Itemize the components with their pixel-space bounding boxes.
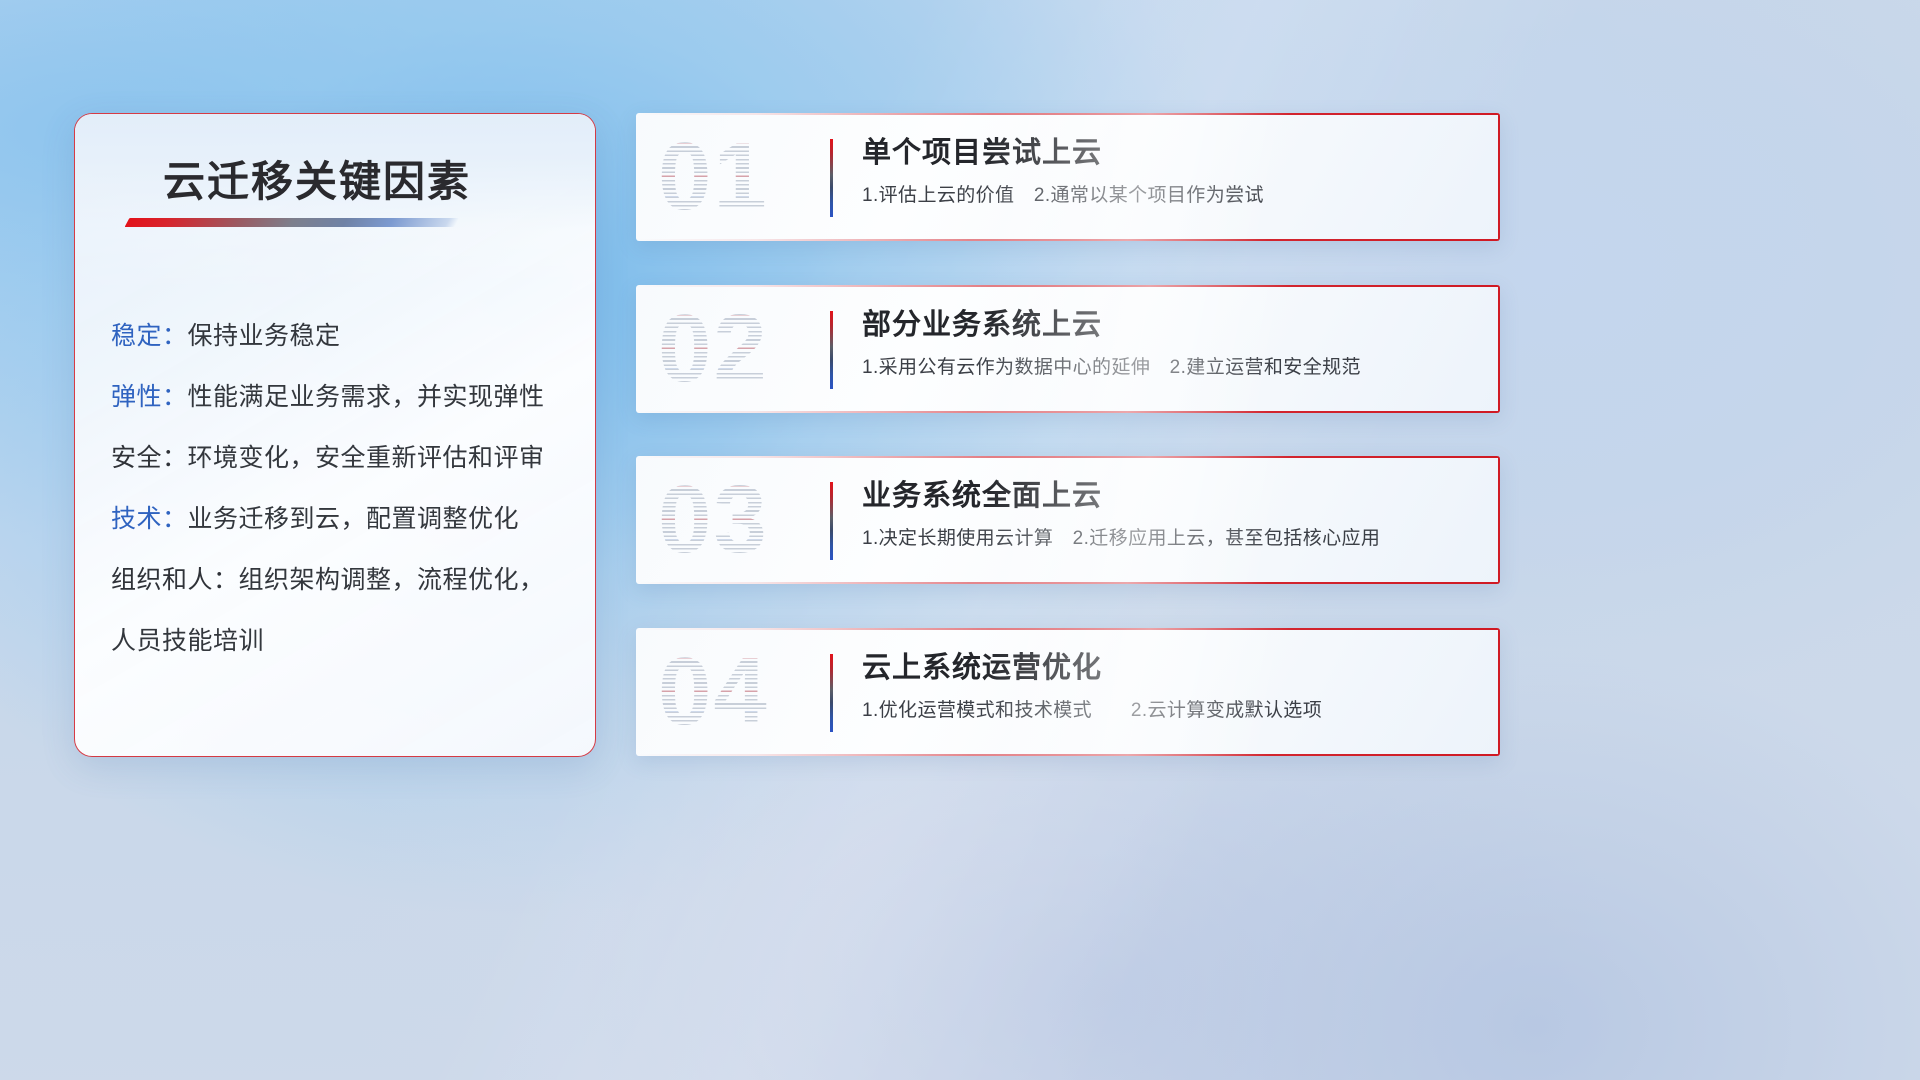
factor-value: 业务迁移到云，配置调整优化 [188, 505, 520, 533]
card-bottom-border [636, 754, 1500, 756]
card-top-border [636, 113, 1500, 115]
step-title: 单个项目尝试上云 [862, 131, 1474, 175]
step-content-02: 部分业务系统上云 1.采用公有云作为数据中心的延伸 2.建立运营和安全规范 [862, 303, 1474, 383]
key-factors-panel: 云迁移关键因素 稳定：保持业务稳定 弹性：性能满足业务需求，并实现弹性 安全：环… [74, 113, 596, 757]
card-right-border [1498, 456, 1500, 584]
step-number-01: 01 01 01 [658, 121, 858, 233]
factor-value: 组织架构调整，流程优化， [239, 566, 545, 594]
card-right-border [1498, 628, 1500, 756]
factor-key: 安全： [111, 444, 188, 472]
step-number-blue-glitch: 01 [658, 121, 858, 233]
step-number-blue-glitch: 04 [658, 636, 858, 748]
card-bottom-border [636, 411, 1500, 413]
card-top-border [636, 285, 1500, 287]
step-card-02[interactable]: 02 02 02 部分业务系统上云 1.采用公有云作为数据中心的延伸 2.建立运… [636, 285, 1500, 413]
title-underline-rule [125, 218, 460, 227]
factor-key: 弹性： [111, 383, 188, 411]
card-right-border [1498, 113, 1500, 241]
list-item: 弹性：性能满足业务需求，并实现弹性 [111, 367, 581, 428]
step-description: 1.评估上云的价值 2.通常以某个项目作为尝试 [862, 181, 1474, 211]
step-divider-bar [830, 311, 833, 389]
step-description: 1.采用公有云作为数据中心的延伸 2.建立运营和安全规范 [862, 353, 1474, 383]
step-divider-bar [830, 654, 833, 732]
factor-key: 技术： [111, 505, 188, 533]
list-item: 稳定：保持业务稳定 [111, 306, 581, 367]
key-factors-list: 稳定：保持业务稳定 弹性：性能满足业务需求，并实现弹性 安全：环境变化，安全重新… [111, 306, 581, 672]
page-title: 云迁移关键因素 [163, 148, 471, 209]
card-top-border [636, 628, 1500, 630]
factor-key: 稳定： [111, 322, 188, 350]
step-content-03: 业务系统全面上云 1.决定长期使用云计算 2.迁移应用上云，甚至包括核心应用 [862, 474, 1474, 554]
list-item: 人员技能培训 [111, 611, 581, 672]
step-title: 业务系统全面上云 [862, 474, 1474, 518]
step-number-02: 02 02 02 [658, 293, 858, 405]
list-item: 技术：业务迁移到云，配置调整优化 [111, 489, 581, 550]
step-divider-bar [830, 482, 833, 560]
card-right-border [1498, 285, 1500, 413]
card-bottom-border [636, 582, 1500, 584]
step-number-04: 04 04 04 [658, 636, 858, 748]
step-description: 1.优化运营模式和技术模式 2.云计算变成默认选项 [862, 696, 1474, 726]
list-item: 组织和人：组织架构调整，流程优化， [111, 550, 581, 611]
step-card-03[interactable]: 03 03 03 业务系统全面上云 1.决定长期使用云计算 2.迁移应用上云，甚… [636, 456, 1500, 584]
card-top-border [636, 456, 1500, 458]
factor-value: 环境变化，安全重新评估和评审 [188, 444, 545, 472]
step-number-blue-glitch: 02 [658, 293, 858, 405]
factor-value: 保持业务稳定 [188, 322, 341, 350]
card-bottom-border [636, 239, 1500, 241]
step-number-blue-glitch: 03 [658, 464, 858, 576]
step-content-04: 云上系统运营优化 1.优化运营模式和技术模式 2.云计算变成默认选项 [862, 646, 1474, 726]
list-item: 安全：环境变化，安全重新评估和评审 [111, 428, 581, 489]
step-divider-bar [830, 139, 833, 217]
step-content-01: 单个项目尝试上云 1.评估上云的价值 2.通常以某个项目作为尝试 [862, 131, 1474, 211]
factor-value: 性能满足业务需求，并实现弹性 [188, 383, 545, 411]
step-number-03: 03 03 03 [658, 464, 858, 576]
step-description: 1.决定长期使用云计算 2.迁移应用上云，甚至包括核心应用 [862, 524, 1474, 554]
step-title: 部分业务系统上云 [862, 303, 1474, 347]
factor-key: 组织和人： [111, 566, 239, 594]
step-title: 云上系统运营优化 [862, 646, 1474, 690]
factor-value: 人员技能培训 [111, 627, 264, 655]
slide-stage: 云迁移关键因素 稳定：保持业务稳定 弹性：性能满足业务需求，并实现弹性 安全：环… [0, 0, 1920, 1080]
step-card-01[interactable]: 01 01 01 单个项目尝试上云 1.评估上云的价值 2.通常以某个项目作为尝… [636, 113, 1500, 241]
step-card-04[interactable]: 04 04 04 云上系统运营优化 1.优化运营模式和技术模式 2.云计算变成默… [636, 628, 1500, 756]
